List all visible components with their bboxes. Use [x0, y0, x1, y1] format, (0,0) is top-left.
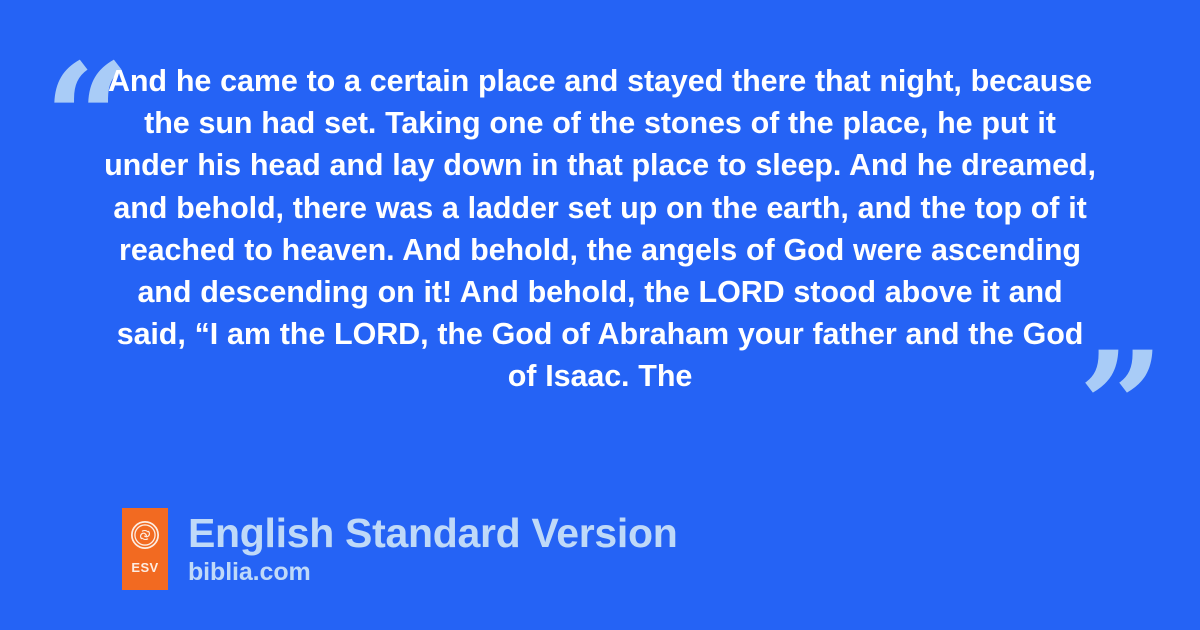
attribution: ESV English Standard Version biblia.com — [122, 508, 677, 590]
bible-version-name: English Standard Version — [188, 510, 677, 556]
esv-logo-badge: ESV — [122, 508, 168, 590]
quote-card: “ And he came to a certain place and sta… — [0, 0, 1200, 630]
quote-text: And he came to a certain place and staye… — [104, 60, 1096, 398]
closing-quote-mark-icon: ” — [1078, 332, 1164, 482]
quote-block: “ And he came to a certain place and sta… — [0, 42, 1200, 422]
esv-seal-icon — [131, 521, 159, 549]
attribution-text: English Standard Version biblia.com — [188, 508, 677, 586]
site-name: biblia.com — [188, 558, 677, 586]
logo-abbreviation: ESV — [131, 561, 158, 574]
